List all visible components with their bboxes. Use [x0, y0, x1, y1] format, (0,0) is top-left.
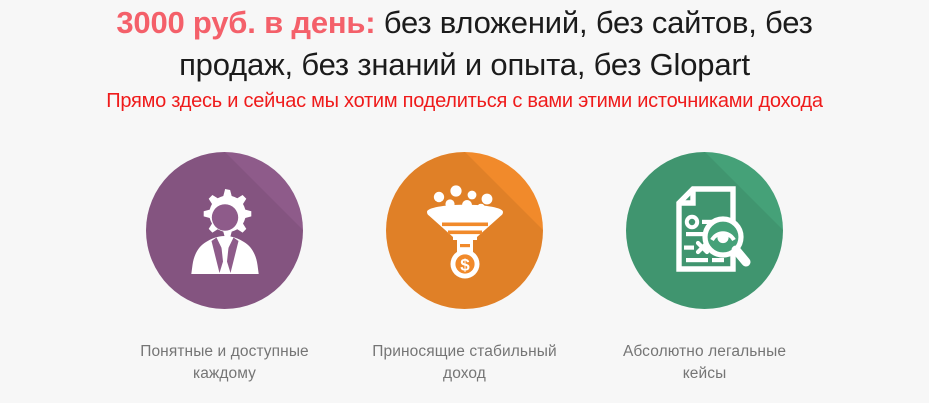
sales-funnel-dollar-icon: $ [415, 181, 515, 281]
feature-caption-1: Понятные и доступные каждому [120, 341, 330, 385]
document-magnifier-eye-icon [655, 181, 755, 281]
svg-text:$: $ [460, 255, 470, 274]
person-gear-icon [175, 181, 275, 281]
page-subtitle: Прямо здесь и сейчас мы хотим поделиться… [0, 88, 929, 114]
feature-item-2: $ Приносящие стабильный доход [345, 152, 585, 385]
promo-banner: 3000 руб. в день: без вложений, без сайт… [0, 0, 929, 403]
feature-caption-3: Абсолютно легальные кейсы [600, 341, 810, 385]
feature-item-1: Понятные и доступные каждому [105, 152, 345, 385]
headline-accent: 3000 руб. в день: [116, 5, 375, 40]
page-title-line2: продаж, без знаний и опыта, без Glopart [0, 44, 929, 86]
page-title: 3000 руб. в день: без вложений, без сайт… [0, 2, 929, 44]
feature-icon-circle-3 [626, 152, 783, 309]
headline-rest: без вложений, без сайтов, без [375, 5, 812, 40]
feature-icon-circle-1 [146, 152, 303, 309]
feature-list: Понятные и доступные каждому [0, 152, 929, 403]
feature-caption-2: Приносящие стабильный доход [360, 341, 570, 385]
feature-icon-circle-2: $ [386, 152, 543, 309]
feature-item-3: Абсолютно легальные кейсы [585, 152, 825, 385]
